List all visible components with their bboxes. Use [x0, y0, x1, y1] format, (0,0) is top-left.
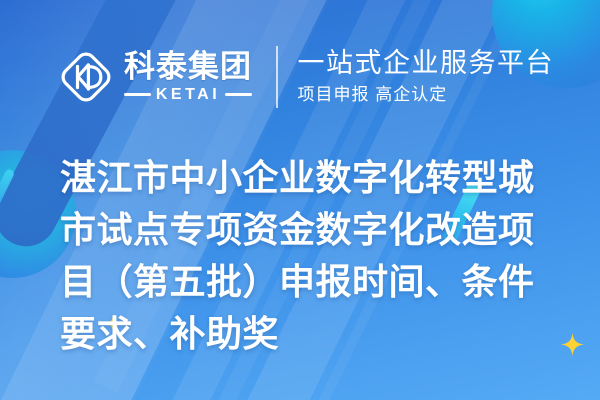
- sparkle-star-icon: [561, 333, 584, 356]
- company-name-en: KETAI: [156, 87, 220, 103]
- promo-banner: 科泰集团 KETAI 一站式企业服务平台 项目申报 高企认定 湛江市中小企业数字…: [0, 0, 600, 400]
- slogan-secondary: 项目申报 高企认定: [298, 84, 555, 106]
- headline-title: 湛江市中小企业数字化转型城市试点专项资金数字化改造项目（第五批）申报时间、条件要…: [60, 152, 560, 360]
- slogan-block: 一站式企业服务平台 项目申报 高企认定: [298, 48, 555, 106]
- wordmark-rule-right: [225, 93, 252, 96]
- vertical-divider: [276, 46, 278, 108]
- ketai-diamond-kd-logo-icon: [55, 46, 117, 108]
- company-name-cn: 科泰集团: [124, 51, 252, 84]
- slogan-primary: 一站式企业服务平台: [298, 48, 555, 80]
- company-name-en-row: KETAI: [124, 87, 252, 103]
- cyan-accent-slash: [0, 168, 15, 208]
- wordmark-rule-left: [124, 93, 151, 96]
- logo-wordmark: 科泰集团 KETAI: [124, 51, 252, 103]
- banner-header: 科泰集团 KETAI 一站式企业服务平台 项目申报 高企认定: [55, 38, 554, 116]
